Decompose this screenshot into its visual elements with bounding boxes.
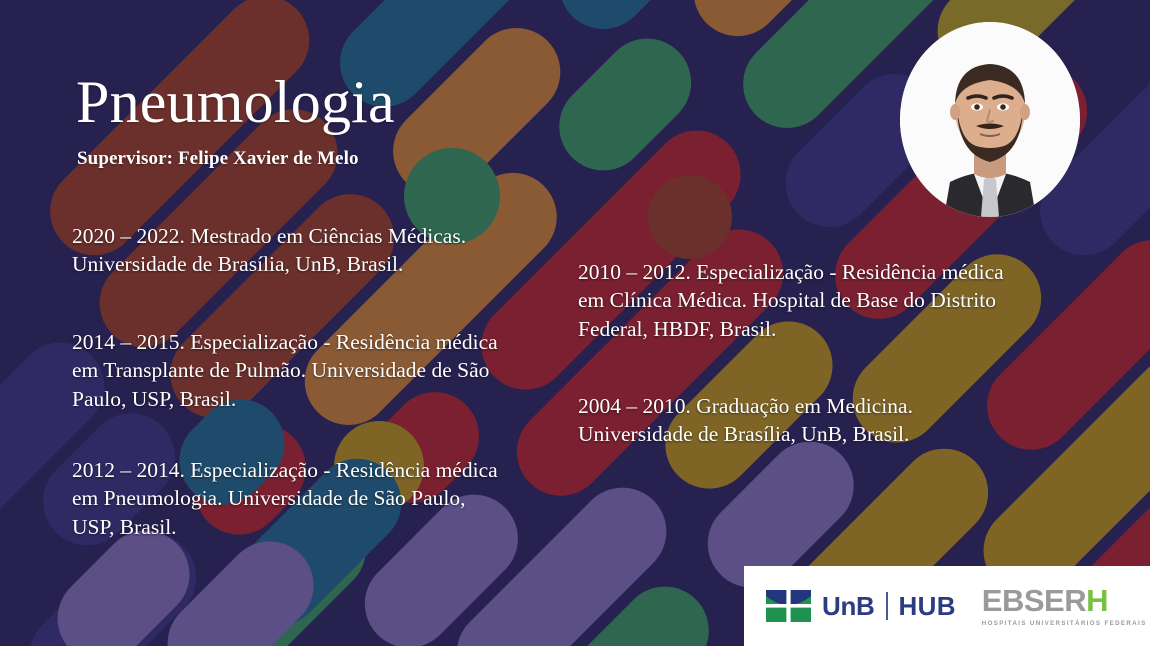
ebserh-tagline: HOSPITAIS UNIVERSITÁRIOS FEDERAIS <box>982 620 1147 627</box>
logo-bar: UnB HUB EBSERH HOSPITAIS UNIVERSITÁRIOS … <box>744 566 1150 646</box>
unb-wordmark: UnB <box>822 591 875 622</box>
logo-divider <box>886 592 888 620</box>
cv-entry-graduacao: 2004 – 2010. Graduação em Medicina. Univ… <box>578 392 1094 449</box>
hub-wordmark: HUB <box>899 591 956 622</box>
portrait-photo <box>900 22 1080 217</box>
presentation-slide: Pneumologia Supervisor: Felipe Xavier de… <box>0 0 1150 646</box>
unb-logo-icon <box>766 590 811 622</box>
supervisor-label: Supervisor: Felipe Xavier de Melo <box>77 148 359 170</box>
unb-hub-logo: UnB HUB <box>766 590 956 622</box>
ebserh-wordmark: EBSERH <box>982 585 1108 616</box>
cv-entry-transplante-pulmao: 2014 – 2015. Especialização - Residência… <box>72 328 588 413</box>
ebserh-logo: EBSERH HOSPITAIS UNIVERSITÁRIOS FEDERAIS <box>982 585 1147 627</box>
cv-entry-clinica-medica: 2010 – 2012. Especialização - Residência… <box>578 258 1094 343</box>
cv-entry-mestrado: 2020 – 2022. Mestrado em Ciências Médica… <box>72 222 588 279</box>
ebserh-wordmark-accent: H <box>1086 583 1108 618</box>
page-title: Pneumologia <box>76 72 395 133</box>
ebserh-wordmark-main: EBSER <box>982 583 1086 618</box>
cv-entry-pneumologia: 2012 – 2014. Especialização - Residência… <box>72 456 588 541</box>
avatar <box>900 22 1080 217</box>
